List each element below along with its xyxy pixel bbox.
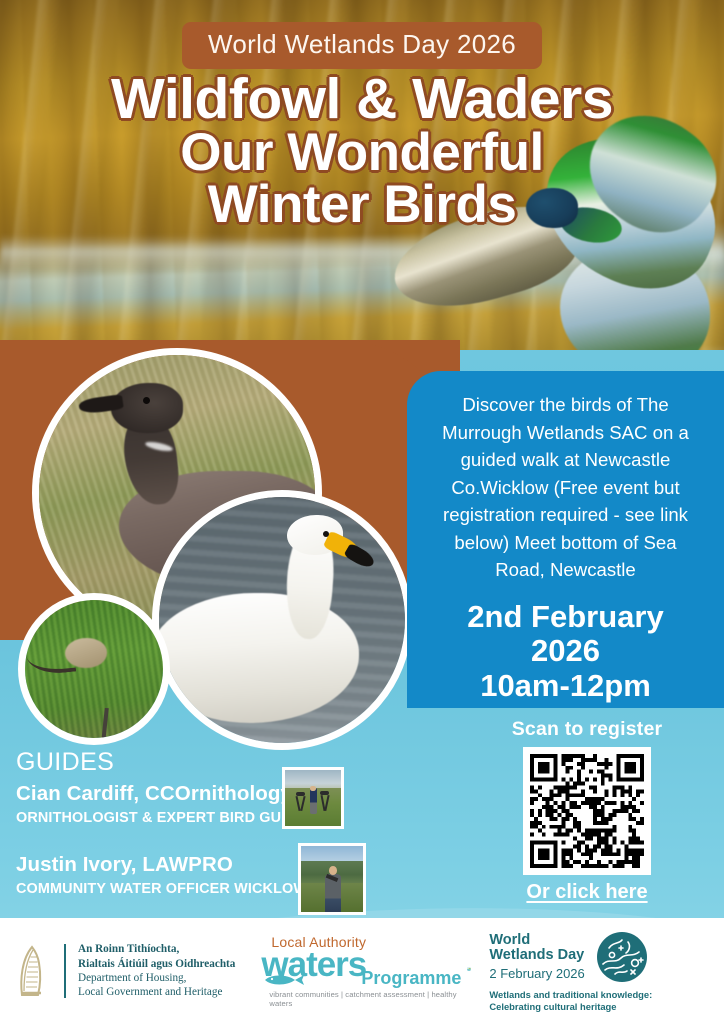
wwd-theme-line-2: Celebrating cultural heritage: [489, 1001, 652, 1013]
guide-photo-2: [298, 843, 366, 915]
poster: World Wetlands Day 2026 Wildfowl & Wader…: [0, 0, 724, 1024]
qr-code[interactable]: [523, 747, 651, 875]
guide1-spotting-scope: [296, 792, 305, 796]
guide-name: Justin Ivory, LAWPRO: [16, 852, 341, 878]
irish-harp-icon: [16, 943, 50, 999]
guide1-spotting-scope: [320, 791, 329, 795]
title-line-1: Wildfowl & Waders: [0, 70, 724, 128]
gov-department-text: An Roinn Tithíochta, Rialtais Áitiúil ag…: [78, 942, 235, 999]
gov-line-3: Department of Housing,: [78, 971, 235, 985]
or-click-here-link[interactable]: Or click here: [450, 881, 724, 904]
footer-divider: [64, 944, 66, 998]
footer-logos: An Roinn Tithíochta, Rialtais Áitiúil ag…: [0, 918, 724, 1024]
title-line-2: Our Wonderful: [0, 126, 724, 180]
guide-entry-2: Justin Ivory, LAWPRO COMMUNITY WATER OFF…: [16, 852, 341, 898]
registration-block: Scan to register Or click here: [450, 718, 724, 904]
event-date: 2nd February 2026: [429, 600, 702, 669]
swan-eye: [323, 531, 329, 537]
guide1-person-head: [310, 786, 315, 790]
qr-code-icon: [530, 754, 644, 868]
page-title: Wildfowl & Waders Our Wonderful Winter B…: [0, 70, 724, 232]
guide-role: ORNITHOLOGIST & EXPERT BIRD GUIDE: [16, 809, 306, 828]
lawpro-tagline: vibrant communities | catchment assessme…: [269, 990, 471, 1008]
event-info-box: Discover the birds of The Murrough Wetla…: [407, 371, 724, 708]
wwd-line-1: World: [489, 933, 584, 949]
wwd-line-2: Wetlands Day: [489, 948, 584, 964]
wwd-mark-row: World Wetlands Day 2 February 2026: [489, 930, 652, 984]
scan-to-register-label: Scan to register: [450, 718, 724, 741]
event-time: 10am-12pm: [429, 669, 702, 704]
lawpro-wordmark-row: waters Programme: [261, 948, 471, 988]
gov-line-2: Rialtais Áitiúil agus Oidhreachta: [78, 957, 235, 971]
lawpro-waters-logo: Local Authority waters Programme: [261, 934, 471, 1007]
fish-icon: [261, 973, 305, 987]
guide-photo-1: [282, 767, 344, 829]
wwd-circular-emblem-icon: [595, 930, 649, 984]
title-line-3: Winter Birds: [0, 178, 724, 232]
event-day-badge: World Wetlands Day 2026: [182, 22, 542, 69]
whooper-swan-photo: [152, 490, 412, 750]
guide-name: Cian Cardiff, CCOrnithology: [16, 781, 306, 807]
event-description: Discover the birds of The Murrough Wetla…: [429, 391, 702, 584]
guide-role: COMMUNITY WATER OFFICER WICKLOW/DLR: [16, 880, 341, 899]
gov-ireland-logo: An Roinn Tithíochta, Rialtais Áitiúil ag…: [16, 942, 235, 999]
guide1-person-body: [310, 788, 317, 814]
guides-heading: GUIDES: [16, 748, 114, 777]
gov-line-4: Local Government and Heritage: [78, 985, 235, 999]
lawpro-programme-text: Programme: [361, 968, 461, 989]
goose-eye: [143, 397, 150, 404]
curlew-photo: [18, 593, 170, 745]
world-wetlands-day-logo: World Wetlands Day 2 February 2026: [489, 930, 652, 1013]
wwd-theme-text: Wetlands and traditional knowledge: Cele…: [489, 989, 652, 1013]
gov-line-1: An Roinn Tithíochta,: [78, 942, 235, 956]
guide-entry-1: Cian Cardiff, CCOrnithology ORNITHOLOGIS…: [16, 781, 306, 827]
wwd-text: World Wetlands Day 2 February 2026: [489, 933, 584, 981]
waters-globe-icon: [467, 950, 471, 988]
wwd-theme-line-1: Wetlands and traditional knowledge:: [489, 989, 652, 1001]
wwd-date: 2 February 2026: [489, 966, 584, 981]
guide2-person-head: [329, 866, 337, 875]
